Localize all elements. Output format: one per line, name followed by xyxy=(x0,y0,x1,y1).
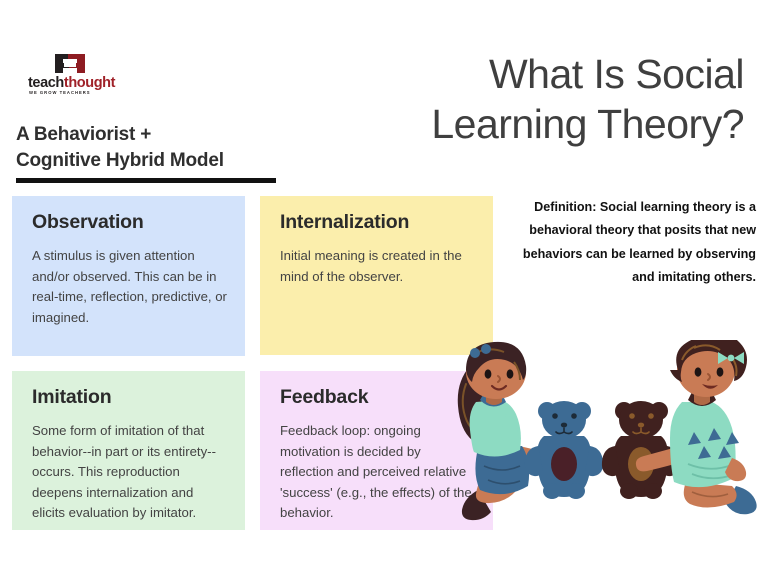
card-observation: Observation A stimulus is given attentio… xyxy=(12,196,245,356)
logo-word-teach: teach xyxy=(28,75,64,91)
card-internalization-title: Internalization xyxy=(280,212,477,233)
logo-tagline: WE GROW TEACHERS xyxy=(29,90,91,95)
card-observation-body: A stimulus is given attention and/or obs… xyxy=(32,246,229,328)
subtitle-divider xyxy=(16,178,276,183)
logo-word-thought: thought xyxy=(64,75,115,91)
teachthought-logo: teachthought WE GROW TEACHERS xyxy=(28,52,120,98)
page-subtitle-line-1: A Behaviorist + xyxy=(16,124,151,145)
card-internalization-body: Initial meaning is created in the mind o… xyxy=(280,246,477,287)
page-title-line-2: Learning Theory? xyxy=(431,101,744,147)
card-feedback: Feedback Feedback loop: ongoing motivati… xyxy=(260,371,493,530)
card-imitation: Imitation Some form of imitation of that… xyxy=(12,371,245,530)
page-subtitle-line-2: Cognitive Hybrid Model xyxy=(16,150,224,171)
card-feedback-title: Feedback xyxy=(280,387,477,408)
page-title-line-1: What Is Social xyxy=(489,51,744,97)
hair-bow-icon xyxy=(718,352,744,364)
card-imitation-body: Some form of imitation of that behavior-… xyxy=(32,421,229,523)
logo-wordmark: teachthought xyxy=(28,76,120,91)
blue-teddy-bear xyxy=(525,401,603,499)
card-observation-title: Observation xyxy=(32,212,229,233)
page-subtitle: A Behaviorist + Cognitive Hybrid Model xyxy=(16,122,316,173)
teachthought-logo-mark-icon xyxy=(52,52,88,76)
page-title: What Is Social Learning Theory? xyxy=(314,49,744,149)
definition-text: Definition: Social learning theory is a … xyxy=(512,196,756,289)
brown-teddy-bear xyxy=(602,401,680,499)
card-feedback-body: Feedback loop: ongoing motivation is dec… xyxy=(280,421,477,523)
card-imitation-title: Imitation xyxy=(32,387,229,408)
card-internalization: Internalization Initial meaning is creat… xyxy=(260,196,493,355)
child-right-figure xyxy=(636,340,757,514)
